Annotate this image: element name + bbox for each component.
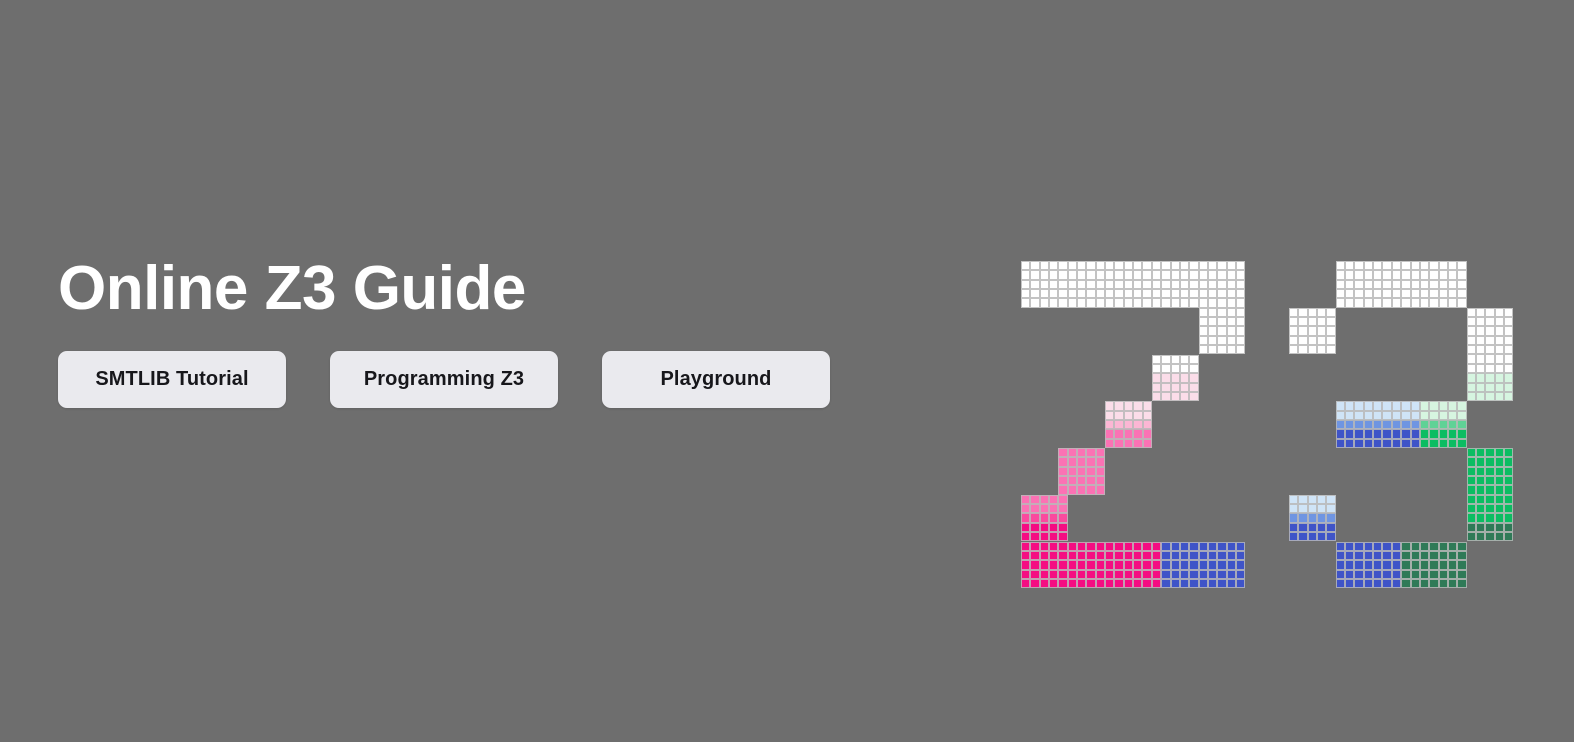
logo-pixel xyxy=(1086,560,1095,569)
logo-pixel xyxy=(1429,439,1438,448)
logo-pixel xyxy=(1236,289,1245,298)
logo-pixel xyxy=(1495,373,1504,382)
logo-pixel xyxy=(1217,326,1226,335)
logo-pixel xyxy=(1495,448,1504,457)
logo-pixel xyxy=(1354,289,1363,298)
logo-pixel xyxy=(1171,551,1180,560)
logo-pixel xyxy=(1105,298,1114,307)
logo-pixel xyxy=(1373,429,1382,438)
logo-pixel xyxy=(1317,308,1326,317)
logo-pixel xyxy=(1485,532,1494,541)
logo-pixel xyxy=(1485,392,1494,401)
logo-pixel xyxy=(1298,523,1307,532)
logo-pixel xyxy=(1171,570,1180,579)
logo-pixel xyxy=(1133,270,1142,279)
logo-pixel xyxy=(1448,280,1457,289)
logo-pixel xyxy=(1030,261,1039,270)
logo-pixel xyxy=(1354,401,1363,410)
logo-pixel xyxy=(1401,579,1410,588)
logo-pixel xyxy=(1345,420,1354,429)
logo-pixel xyxy=(1308,495,1317,504)
logo-pixel xyxy=(1457,429,1466,438)
logo-pixel xyxy=(1021,298,1030,307)
logo-pixel xyxy=(1105,280,1114,289)
logo-pixel xyxy=(1495,532,1504,541)
logo-pixel xyxy=(1171,373,1180,382)
logo-pixel xyxy=(1152,261,1161,270)
logo-pixel xyxy=(1114,270,1123,279)
logo-pixel xyxy=(1467,373,1476,382)
logo-pixel xyxy=(1180,560,1189,569)
logo-pixel xyxy=(1373,420,1382,429)
logo-pixel xyxy=(1504,476,1513,485)
logo-pixel xyxy=(1411,570,1420,579)
logo-pixel xyxy=(1467,457,1476,466)
logo-pixel xyxy=(1289,504,1298,513)
logo-pixel xyxy=(1208,579,1217,588)
logo-pixel xyxy=(1217,280,1226,289)
three-bottom-blue xyxy=(1336,542,1401,589)
logo-pixel xyxy=(1058,570,1067,579)
logo-pixel xyxy=(1105,420,1114,429)
logo-pixel xyxy=(1420,411,1429,420)
logo-pixel xyxy=(1161,570,1170,579)
logo-pixel xyxy=(1236,542,1245,551)
logo-pixel xyxy=(1382,289,1391,298)
logo-pixel xyxy=(1133,420,1142,429)
logo-pixel xyxy=(1457,439,1466,448)
logo-pixel xyxy=(1354,429,1363,438)
logo-pixel xyxy=(1411,429,1420,438)
logo-pixel xyxy=(1448,439,1457,448)
logo-pixel xyxy=(1504,354,1513,363)
logo-pixel xyxy=(1068,579,1077,588)
logo-pixel xyxy=(1298,308,1307,317)
logo-pixel xyxy=(1420,439,1429,448)
logo-pixel xyxy=(1227,579,1236,588)
logo-pixel xyxy=(1040,579,1049,588)
logo-pixel xyxy=(1096,485,1105,494)
logo-pixel xyxy=(1171,261,1180,270)
z-top-bar xyxy=(1021,261,1245,308)
logo-pixel xyxy=(1021,289,1030,298)
logo-pixel xyxy=(1448,542,1457,551)
logo-pixel xyxy=(1411,560,1420,569)
logo-pixel xyxy=(1298,336,1307,345)
logo-pixel xyxy=(1289,513,1298,522)
logo-pixel xyxy=(1476,383,1485,392)
logo-pixel xyxy=(1049,495,1058,504)
logo-pixel xyxy=(1236,345,1245,354)
logo-pixel xyxy=(1495,336,1504,345)
logo-pixel xyxy=(1124,439,1133,448)
logo-pixel xyxy=(1429,420,1438,429)
logo-pixel xyxy=(1227,317,1236,326)
logo-pixel xyxy=(1485,476,1494,485)
logo-pixel xyxy=(1227,336,1236,345)
logo-pixel xyxy=(1208,570,1217,579)
programming-z3-button[interactable]: Programming Z3 xyxy=(330,351,558,408)
logo-pixel xyxy=(1317,326,1326,335)
logo-glyph-z xyxy=(1021,261,1245,588)
logo-pixel xyxy=(1030,298,1039,307)
logo-pixel xyxy=(1058,485,1067,494)
logo-pixel xyxy=(1161,280,1170,289)
logo-pixel xyxy=(1142,280,1151,289)
logo-pixel xyxy=(1457,560,1466,569)
logo-pixel xyxy=(1217,570,1226,579)
logo-pixel xyxy=(1040,532,1049,541)
logo-pixel xyxy=(1086,476,1095,485)
logo-pixel xyxy=(1336,420,1345,429)
logo-pixel xyxy=(1439,551,1448,560)
logo-pixel xyxy=(1040,542,1049,551)
logo-pixel xyxy=(1401,298,1410,307)
logo-pixel xyxy=(1077,261,1086,270)
logo-pixel xyxy=(1457,298,1466,307)
logo-pixel xyxy=(1096,261,1105,270)
logo-pixel xyxy=(1199,542,1208,551)
logo-pixel xyxy=(1217,261,1226,270)
logo-pixel xyxy=(1217,270,1226,279)
logo-pixel xyxy=(1199,345,1208,354)
logo-pixel xyxy=(1068,298,1077,307)
logo-pixel xyxy=(1467,354,1476,363)
logo-pixel xyxy=(1364,420,1373,429)
logo-pixel xyxy=(1133,570,1142,579)
logo-pixel xyxy=(1096,476,1105,485)
logo-pixel xyxy=(1049,579,1058,588)
logo-pixel xyxy=(1068,485,1077,494)
logo-pixel xyxy=(1289,345,1298,354)
logo-pixel xyxy=(1152,551,1161,560)
logo-pixel xyxy=(1467,392,1476,401)
logo-pixel xyxy=(1429,289,1438,298)
logo-pixel xyxy=(1457,289,1466,298)
logo-pixel xyxy=(1345,401,1354,410)
logo-pixel xyxy=(1448,420,1457,429)
logo-pixel xyxy=(1336,551,1345,560)
logo-pixel xyxy=(1504,392,1513,401)
logo-pixel xyxy=(1476,476,1485,485)
logo-pixel xyxy=(1049,504,1058,513)
logo-pixel xyxy=(1058,532,1067,541)
logo-pixel xyxy=(1171,289,1180,298)
logo-pixel xyxy=(1485,383,1494,392)
logo-pixel xyxy=(1133,439,1142,448)
logo-pixel xyxy=(1142,551,1151,560)
logo-pixel xyxy=(1152,364,1161,373)
logo-pixel xyxy=(1373,411,1382,420)
logo-pixel xyxy=(1096,448,1105,457)
logo-pixel xyxy=(1326,504,1335,513)
logo-pixel xyxy=(1049,542,1058,551)
logo-pixel xyxy=(1133,401,1142,410)
logo-pixel xyxy=(1326,345,1335,354)
logo-pixel xyxy=(1199,308,1208,317)
logo-pixel xyxy=(1161,392,1170,401)
logo-pixel xyxy=(1086,570,1095,579)
logo-pixel xyxy=(1114,439,1123,448)
logo-pixel xyxy=(1096,467,1105,476)
logo-pixel xyxy=(1217,345,1226,354)
logo-pixel xyxy=(1021,495,1030,504)
logo-pixel xyxy=(1068,560,1077,569)
logo-pixel xyxy=(1105,542,1114,551)
logo-pixel xyxy=(1180,261,1189,270)
logo-pixel xyxy=(1504,336,1513,345)
logo-pixel xyxy=(1133,261,1142,270)
logo-pixel xyxy=(1189,298,1198,307)
logo-pixel xyxy=(1142,579,1151,588)
logo-pixel xyxy=(1392,420,1401,429)
logo-pixel xyxy=(1021,504,1030,513)
three-bottom-stub xyxy=(1289,495,1336,542)
logo-pixel xyxy=(1217,336,1226,345)
logo-pixel xyxy=(1317,513,1326,522)
logo-pixel xyxy=(1058,551,1067,560)
logo-pixel xyxy=(1345,270,1354,279)
logo-pixel xyxy=(1448,261,1457,270)
logo-pixel xyxy=(1217,542,1226,551)
logo-pixel xyxy=(1467,467,1476,476)
logo-pixel xyxy=(1208,298,1217,307)
logo-pixel xyxy=(1392,439,1401,448)
logo-pixel xyxy=(1021,261,1030,270)
logo-pixel xyxy=(1152,355,1161,364)
logo-pixel xyxy=(1467,504,1476,513)
logo-pixel xyxy=(1227,326,1236,335)
logo-pixel xyxy=(1143,420,1152,429)
logo-pixel xyxy=(1504,383,1513,392)
smtlib-tutorial-button[interactable]: SMTLIB Tutorial xyxy=(58,351,286,408)
logo-pixel xyxy=(1030,579,1039,588)
logo-pixel xyxy=(1411,289,1420,298)
logo-pixel xyxy=(1180,270,1189,279)
logo-pixel xyxy=(1382,560,1391,569)
logo-pixel xyxy=(1336,411,1345,420)
logo-pixel xyxy=(1236,261,1245,270)
logo-pixel xyxy=(1439,298,1448,307)
logo-pixel xyxy=(1504,317,1513,326)
logo-pixel xyxy=(1208,317,1217,326)
logo-pixel xyxy=(1058,270,1067,279)
three-mid-green xyxy=(1420,401,1467,448)
logo-pixel xyxy=(1030,560,1039,569)
logo-pixel xyxy=(1227,570,1236,579)
logo-pixel xyxy=(1058,298,1067,307)
logo-pixel xyxy=(1485,308,1494,317)
logo-pixel xyxy=(1476,523,1485,532)
z-step-4 xyxy=(1058,448,1105,495)
logo-pixel xyxy=(1077,289,1086,298)
logo-pixel xyxy=(1504,504,1513,513)
logo-pixel xyxy=(1133,542,1142,551)
logo-pixel xyxy=(1227,542,1236,551)
logo-pixel xyxy=(1308,326,1317,335)
logo-pixel xyxy=(1298,495,1307,504)
logo-pixel xyxy=(1364,298,1373,307)
logo-pixel xyxy=(1189,383,1198,392)
logo-pixel xyxy=(1429,551,1438,560)
logo-pixel xyxy=(1068,261,1077,270)
logo-pixel xyxy=(1439,579,1448,588)
logo-pixel xyxy=(1420,289,1429,298)
logo-pixel xyxy=(1030,513,1039,522)
logo-pixel xyxy=(1227,261,1236,270)
logo-pixel xyxy=(1161,560,1170,569)
logo-pixel xyxy=(1373,551,1382,560)
logo-pixel xyxy=(1467,495,1476,504)
logo-pixel xyxy=(1171,270,1180,279)
logo-pixel xyxy=(1495,354,1504,363)
logo-pixel xyxy=(1105,411,1114,420)
logo-pixel xyxy=(1495,392,1504,401)
logo-pixel xyxy=(1373,560,1382,569)
logo-pixel xyxy=(1189,355,1198,364)
logo-pixel xyxy=(1152,392,1161,401)
logo-pixel xyxy=(1114,261,1123,270)
logo-pixel xyxy=(1068,467,1077,476)
logo-pixel xyxy=(1429,270,1438,279)
logo-pixel xyxy=(1420,298,1429,307)
logo-pixel xyxy=(1364,579,1373,588)
logo-pixel xyxy=(1364,411,1373,420)
logo-pixel xyxy=(1392,289,1401,298)
logo-pixel xyxy=(1124,542,1133,551)
logo-pixel xyxy=(1049,551,1058,560)
logo-pixel xyxy=(1021,280,1030,289)
logo-pixel xyxy=(1199,280,1208,289)
playground-button[interactable]: Playground xyxy=(602,351,830,408)
logo-pixel xyxy=(1392,270,1401,279)
logo-pixel xyxy=(1077,560,1086,569)
logo-pixel xyxy=(1401,420,1410,429)
logo-pixel xyxy=(1354,261,1363,270)
logo-pixel xyxy=(1429,542,1438,551)
logo-pixel xyxy=(1308,317,1317,326)
logo-pixel xyxy=(1401,280,1410,289)
logo-pixel xyxy=(1336,270,1345,279)
logo-pixel xyxy=(1133,429,1142,438)
logo-pixel xyxy=(1040,280,1049,289)
logo-pixel xyxy=(1298,513,1307,522)
logo-pixel xyxy=(1345,570,1354,579)
logo-pixel xyxy=(1289,495,1298,504)
logo-pixel xyxy=(1289,532,1298,541)
logo-pixel xyxy=(1189,551,1198,560)
logo-pixel xyxy=(1420,401,1429,410)
logo-pixel xyxy=(1495,326,1504,335)
logo-pixel xyxy=(1317,523,1326,532)
logo-pixel xyxy=(1114,401,1123,410)
logo-pixel xyxy=(1364,429,1373,438)
logo-pixel xyxy=(1504,467,1513,476)
logo-pixel xyxy=(1208,270,1217,279)
logo-pixel xyxy=(1068,542,1077,551)
logo-pixel xyxy=(1217,308,1226,317)
logo-pixel xyxy=(1086,280,1095,289)
logo-pixel xyxy=(1401,439,1410,448)
logo-pixel xyxy=(1504,523,1513,532)
logo-pixel xyxy=(1105,551,1114,560)
logo-pixel xyxy=(1326,495,1335,504)
logo-pixel xyxy=(1345,429,1354,438)
logo-pixel xyxy=(1317,504,1326,513)
logo-pixel xyxy=(1152,579,1161,588)
logo-pixel xyxy=(1354,411,1363,420)
logo-pixel xyxy=(1161,551,1170,560)
logo-pixel xyxy=(1189,579,1198,588)
logo-pixel xyxy=(1354,298,1363,307)
logo-pixel xyxy=(1495,345,1504,354)
logo-pixel xyxy=(1485,373,1494,382)
logo-pixel xyxy=(1354,280,1363,289)
logo-pixel xyxy=(1180,570,1189,579)
logo-pixel xyxy=(1476,485,1485,494)
logo-pixel xyxy=(1152,383,1161,392)
logo-pixel xyxy=(1401,261,1410,270)
logo-pixel xyxy=(1485,345,1494,354)
logo-pixel xyxy=(1485,485,1494,494)
logo-pixel xyxy=(1086,289,1095,298)
logo-pixel xyxy=(1030,532,1039,541)
logo-pixel xyxy=(1326,326,1335,335)
logo-pixel xyxy=(1448,429,1457,438)
logo-pixel xyxy=(1058,560,1067,569)
logo-pixel xyxy=(1289,308,1298,317)
logo-pixel xyxy=(1457,542,1466,551)
logo-pixel xyxy=(1161,289,1170,298)
logo-pixel xyxy=(1411,579,1420,588)
logo-pixel xyxy=(1124,401,1133,410)
logo-pixel xyxy=(1096,298,1105,307)
logo-pixel xyxy=(1114,289,1123,298)
logo-pixel xyxy=(1152,570,1161,579)
three-upper-right-2 xyxy=(1467,373,1514,401)
logo-pixel xyxy=(1124,551,1133,560)
logo-pixel xyxy=(1227,298,1236,307)
logo-pixel xyxy=(1411,439,1420,448)
logo-pixel xyxy=(1040,523,1049,532)
logo-pixel xyxy=(1114,560,1123,569)
logo-pixel xyxy=(1476,457,1485,466)
logo-pixel xyxy=(1142,298,1151,307)
logo-pixel xyxy=(1457,280,1466,289)
logo-pixel xyxy=(1495,476,1504,485)
z3-pixel-logo xyxy=(1021,261,1521,591)
logo-pixel xyxy=(1336,289,1345,298)
logo-pixel xyxy=(1504,308,1513,317)
logo-pixel xyxy=(1336,401,1345,410)
logo-pixel xyxy=(1189,392,1198,401)
logo-pixel xyxy=(1364,289,1373,298)
logo-pixel xyxy=(1180,289,1189,298)
logo-pixel xyxy=(1077,485,1086,494)
logo-pixel xyxy=(1142,560,1151,569)
logo-pixel xyxy=(1124,270,1133,279)
logo-pixel xyxy=(1326,532,1335,541)
logo-pixel xyxy=(1236,551,1245,560)
logo-pixel xyxy=(1317,336,1326,345)
logo-pixel xyxy=(1114,551,1123,560)
logo-pixel xyxy=(1142,542,1151,551)
logo-pixel xyxy=(1217,317,1226,326)
logo-pixel xyxy=(1354,420,1363,429)
logo-pixel xyxy=(1336,560,1345,569)
logo-pixel xyxy=(1171,298,1180,307)
logo-pixel xyxy=(1086,261,1095,270)
